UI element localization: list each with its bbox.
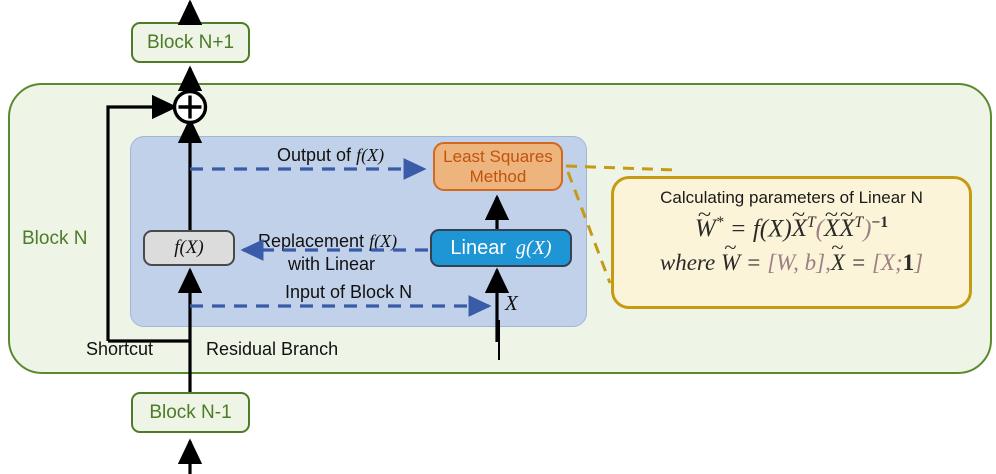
diagram-canvas: Block N Block N+1 Block N-1 f(X) Linear … — [0, 0, 996, 474]
linear-node-arg: g(X) — [516, 237, 552, 260]
edge-label-input-of-block-n: Input of Block N — [285, 282, 412, 303]
formula2-xone-close: ] — [914, 250, 923, 275]
formula1-fx: f(X) — [753, 215, 792, 242]
block-n-plus-1-label: Block N+1 — [147, 32, 234, 54]
fx-node[interactable]: f(X) — [143, 230, 235, 266]
edge-label-replacement-line1: Replacement f(X) — [258, 231, 397, 252]
calculation-callout: Calculating parameters of Linear N W* = … — [611, 176, 972, 309]
least-squares-node[interactable]: Least Squares Method — [433, 142, 563, 191]
linear-node-label: Linear — [450, 237, 506, 260]
callout-formula-2: where W = [W, b],X = [X;1] — [660, 250, 923, 276]
least-squares-line-2: Method — [470, 167, 527, 187]
replacement-text: Replacement — [258, 231, 364, 251]
formula2-x: X — [831, 250, 845, 276]
formula2-wb: [W, b], — [767, 250, 831, 275]
block-n-label: Block N — [22, 228, 87, 250]
formula1-t2: T — [855, 214, 864, 231]
replacement-arg: f(X) — [369, 231, 397, 251]
output-of-text: Output of — [277, 145, 351, 165]
edge-label-replacement-line2: with Linear — [288, 254, 375, 275]
least-squares-line-1: Least Squares — [443, 147, 553, 167]
formula2-xone-open: [X; — [872, 250, 903, 275]
formula2-eq1: = — [746, 250, 762, 275]
formula1-exponent: −1 — [871, 214, 888, 231]
output-of-arg: f(X) — [356, 145, 384, 165]
formula2-w: W — [721, 250, 740, 276]
formula2-eq2: = — [851, 250, 867, 275]
fx-node-label: f(X) — [174, 237, 204, 259]
block-n-minus-1[interactable]: Block N-1 — [131, 392, 250, 433]
formula1-star: * — [716, 214, 724, 231]
block-n-minus-1-label: Block N-1 — [149, 402, 231, 424]
formula1-open-paren: ( — [816, 215, 824, 242]
formula1-xt: X — [792, 215, 807, 244]
formula2-where: where — [660, 250, 715, 275]
linear-node[interactable]: Linear g(X) — [430, 229, 572, 267]
block-n-plus-1[interactable]: Block N+1 — [131, 22, 250, 63]
formula2-one: 1 — [903, 250, 915, 275]
formula1-w: W — [695, 215, 716, 244]
shortcut-label: Shortcut — [86, 339, 153, 360]
residual-branch-label: Residual Branch — [206, 339, 338, 360]
formula1-t1: T — [807, 214, 816, 231]
edge-label-output-of-fx: Output of f(X) — [277, 145, 384, 166]
x-symbol-label: X — [505, 291, 518, 316]
